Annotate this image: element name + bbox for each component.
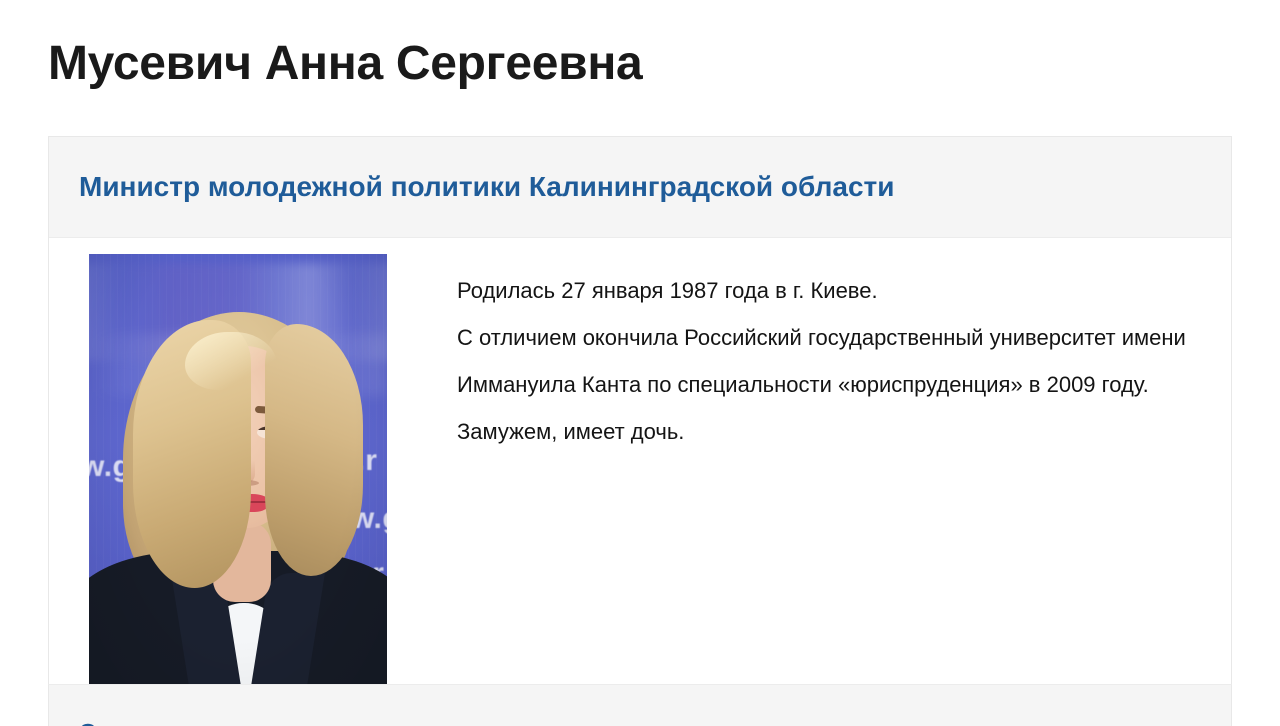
biography-line: С отличием окончила Российский государст… (457, 319, 1191, 356)
profile-card-header: Министр молодежной политики Калининградс… (49, 137, 1231, 238)
profile-card: Министр молодежной политики Калининградс… (48, 136, 1232, 684)
hair-front-right (265, 324, 363, 576)
page-title: Мусевич Анна Сергеевна (48, 31, 642, 97)
next-section-card: Заместители (48, 684, 1232, 726)
next-section-title: Заместители (79, 717, 259, 726)
photo-person (89, 254, 387, 684)
profile-photo-image: w.g 39.r ww.g 39.r (89, 254, 387, 684)
biography-line: Замужем, имеет дочь. (457, 413, 1191, 450)
position-title: Министр молодежной политики Калининградс… (79, 170, 894, 204)
biography-line: Иммануила Канта по специальности «юриспр… (457, 366, 1191, 403)
profile-photo: w.g 39.r ww.g 39.r (89, 254, 387, 684)
profile-card-body: w.g 39.r ww.g 39.r (49, 238, 1231, 683)
hair-highlight (185, 332, 277, 390)
biography-text: Родилась 27 января 1987 года в г. Киеве.… (427, 238, 1231, 460)
page-root: Мусевич Анна Сергеевна Министр молодежно… (0, 0, 1280, 726)
biography-line: Родилась 27 января 1987 года в г. Киеве. (457, 272, 1191, 309)
